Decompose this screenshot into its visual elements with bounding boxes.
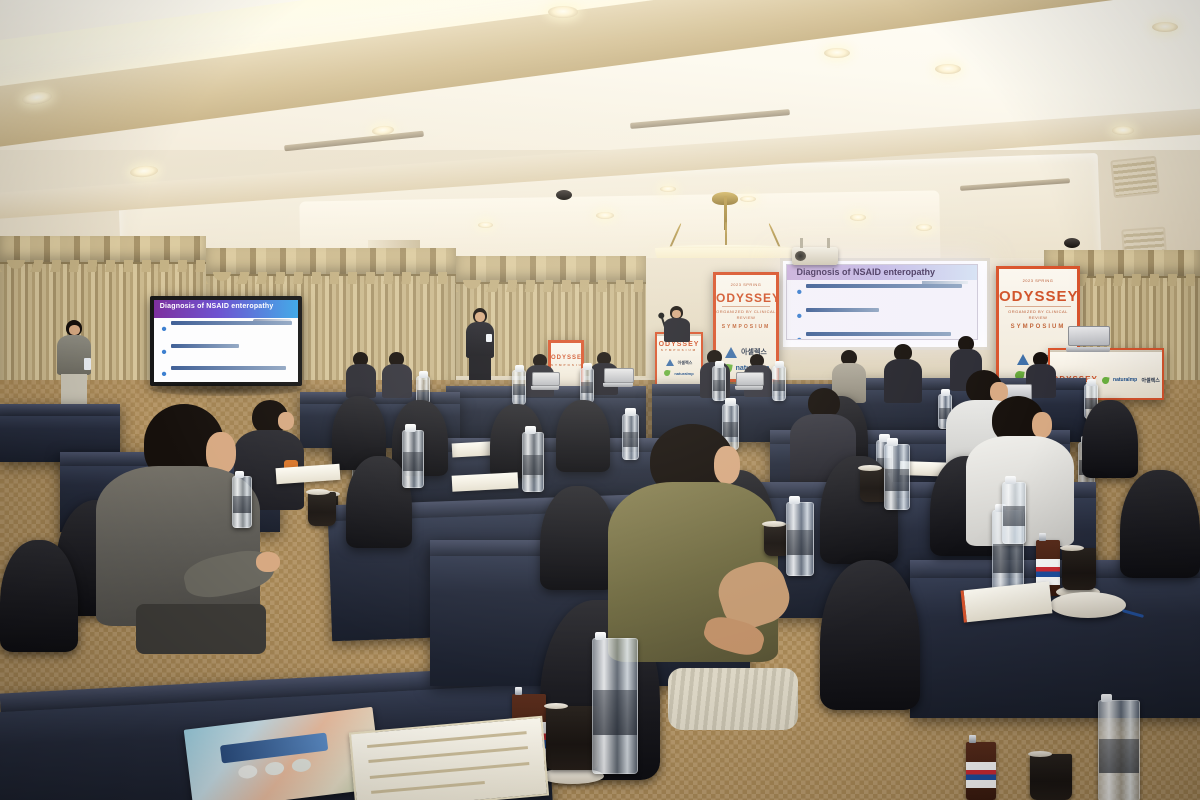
presenter-speaker bbox=[662, 306, 692, 340]
face bbox=[475, 312, 485, 322]
chandelier bbox=[655, 196, 795, 266]
curtain-valance-left bbox=[0, 236, 206, 264]
laptop-screen bbox=[604, 368, 634, 383]
podium-laptop bbox=[1068, 326, 1108, 352]
drink-label bbox=[966, 762, 996, 789]
legs bbox=[61, 374, 87, 406]
bottle-label bbox=[713, 380, 725, 391]
laptop-base bbox=[735, 386, 763, 390]
left-slide-body: • • • • • • bbox=[161, 321, 292, 382]
water-bottle bbox=[232, 476, 252, 528]
seated-attendee bbox=[382, 352, 412, 396]
program-rule bbox=[371, 781, 485, 794]
face bbox=[714, 446, 740, 484]
podium-sponsor-logo-leaf: naturalmp bbox=[657, 370, 701, 376]
mobile-phone bbox=[84, 358, 91, 370]
hvac-square-diffuser bbox=[1110, 156, 1160, 199]
standing-attendee-phone bbox=[56, 320, 92, 406]
podium-banner-title: ODYSSEY bbox=[657, 341, 701, 348]
screen-shadow bbox=[150, 382, 302, 396]
paper-cup bbox=[1062, 548, 1096, 590]
seated-attendee bbox=[884, 344, 922, 402]
slide-bullet: • bbox=[797, 308, 970, 326]
left-slide-title: Diagnosis of NSAID enteropathy bbox=[160, 303, 274, 310]
water-bottle bbox=[592, 638, 638, 774]
face bbox=[69, 325, 80, 335]
slide-bullet: • bbox=[797, 332, 970, 340]
ceiling-speaker-icon bbox=[556, 190, 572, 200]
banner-title: ODYSSEY bbox=[716, 292, 776, 304]
name-badge bbox=[486, 334, 492, 342]
attendee-laptop bbox=[736, 372, 762, 390]
standing-staff-member bbox=[464, 308, 496, 380]
water-bottle bbox=[1098, 700, 1140, 800]
brochure-pill bbox=[238, 764, 258, 779]
seated-attendee bbox=[346, 352, 376, 396]
chair bbox=[1120, 470, 1200, 578]
banner-footer: SYMPOSIUM bbox=[999, 324, 1077, 330]
curtain-valance-center bbox=[206, 248, 456, 276]
laptop-screen bbox=[532, 372, 560, 386]
bottle-label bbox=[581, 382, 593, 393]
bottle-label bbox=[513, 384, 525, 395]
projector-lens-icon bbox=[795, 251, 806, 261]
banner-subtitle: ORGANIZED BY CLINICAL REVIEW bbox=[999, 309, 1077, 321]
downlight-icon bbox=[935, 64, 961, 74]
torso bbox=[884, 359, 922, 403]
leaf-icon bbox=[1101, 376, 1109, 384]
downlight-icon bbox=[1152, 22, 1178, 32]
podium-banner-footer: SYMPOSIUM bbox=[657, 348, 701, 352]
water-bottle bbox=[712, 366, 726, 401]
left-projection-screen: Diagnosis of NSAID enteropathy • • • • •… bbox=[150, 296, 302, 386]
chair bbox=[540, 486, 616, 590]
paper-cup bbox=[308, 492, 336, 526]
brochure-banner bbox=[220, 732, 328, 763]
bottle-label bbox=[885, 469, 909, 491]
laptop-base bbox=[603, 383, 633, 387]
legs bbox=[136, 604, 266, 654]
chair bbox=[0, 540, 78, 652]
podium-sponsor-logo-leaf: naturalmp bbox=[1102, 377, 1137, 384]
slide-bullet: • bbox=[797, 284, 970, 302]
water-bottle bbox=[1002, 482, 1026, 544]
chair bbox=[820, 560, 920, 710]
torso bbox=[382, 364, 412, 398]
bottle-label bbox=[1003, 506, 1025, 526]
conference-room-photo: Diagnosis of NSAID enteropathy • • • • •… bbox=[0, 0, 1200, 800]
chair bbox=[556, 400, 610, 472]
water-bottle bbox=[786, 502, 814, 576]
program-rule bbox=[370, 762, 529, 779]
torso bbox=[346, 364, 376, 398]
downlight-icon bbox=[660, 186, 676, 192]
laptop-screen bbox=[1068, 326, 1110, 346]
banner-footer: SYMPOSIUM bbox=[716, 324, 776, 330]
brochure-pill bbox=[291, 757, 311, 772]
bottle-label bbox=[523, 455, 543, 475]
bottle-label bbox=[1099, 739, 1139, 773]
paper-cup bbox=[1030, 754, 1072, 800]
leaf-icon bbox=[664, 370, 671, 377]
legs bbox=[469, 356, 491, 380]
face bbox=[1032, 412, 1052, 438]
banner-top-line: 2023 SPRING bbox=[999, 278, 1077, 284]
hand bbox=[256, 552, 280, 572]
program-rule bbox=[369, 746, 528, 763]
downlight-icon bbox=[478, 222, 493, 228]
water-bottle bbox=[884, 444, 910, 510]
left-slide: Diagnosis of NSAID enteropathy • • • • •… bbox=[154, 300, 298, 382]
curtain-valance-center-right bbox=[456, 256, 646, 284]
bottle-label bbox=[403, 452, 423, 471]
bottle-label bbox=[593, 690, 637, 736]
slide-bullet: • bbox=[161, 321, 292, 339]
right-slide-title: Diagnosis of NSAID enteropathy bbox=[797, 267, 936, 277]
sponsor-name: naturalmp bbox=[1113, 377, 1137, 383]
water-bottle bbox=[580, 368, 594, 403]
downlight-icon bbox=[548, 6, 578, 18]
water-bottle bbox=[512, 370, 526, 405]
triangle-icon bbox=[666, 359, 674, 366]
ceiling-speaker-icon bbox=[1064, 238, 1080, 248]
banner-rule bbox=[1005, 306, 1071, 307]
slide-bullet: • bbox=[161, 344, 292, 362]
right-projection-screen: Diagnosis of NSAID enteropathy • • • • bbox=[786, 264, 978, 340]
downlight-icon bbox=[1112, 126, 1134, 135]
water-bottle bbox=[522, 432, 544, 492]
laptop-base bbox=[531, 386, 559, 390]
chair bbox=[1082, 400, 1138, 478]
downlight-icon bbox=[916, 224, 932, 231]
torso bbox=[664, 318, 690, 342]
banner-rule bbox=[722, 306, 770, 307]
downlight-icon bbox=[850, 214, 866, 221]
downlight-icon bbox=[824, 48, 850, 58]
program-rule bbox=[367, 731, 526, 748]
water-bottle bbox=[772, 366, 786, 401]
attendee-laptop bbox=[604, 368, 632, 387]
sponsor-name: 아셀렉스 bbox=[678, 360, 693, 366]
banner-title: ODYSSEY bbox=[999, 289, 1077, 304]
seated-attendee-grey-suit bbox=[96, 404, 266, 654]
right-slide-body: • • • • bbox=[797, 284, 970, 340]
laptop-base bbox=[1066, 347, 1109, 352]
face bbox=[672, 310, 681, 318]
brochure-pill bbox=[264, 761, 284, 776]
banner-title: ODYSSEY bbox=[551, 355, 581, 361]
water-bottle bbox=[402, 430, 424, 488]
banner-subtitle: ORGANIZED BY CLINICAL REVIEW bbox=[716, 309, 776, 321]
podium-sponsor-logo-triangle: 아셀렉스 bbox=[657, 359, 701, 366]
bottle-label bbox=[787, 530, 813, 554]
downlight-icon bbox=[596, 212, 614, 219]
face bbox=[278, 412, 294, 430]
sponsor-name: 아셀렉스 bbox=[1141, 377, 1159, 384]
health-drink-bottle bbox=[966, 742, 996, 800]
laptop-screen bbox=[736, 372, 764, 386]
banner-top-line: 2023 SPRING bbox=[716, 282, 776, 288]
ceiling-projector bbox=[792, 247, 838, 265]
sponsor-name: naturalmp bbox=[674, 371, 693, 376]
banner-footer: SYMPOSIUM bbox=[551, 363, 581, 367]
trousers bbox=[668, 668, 798, 730]
attendee-laptop bbox=[532, 372, 558, 390]
bottle-label bbox=[773, 380, 785, 391]
slide-bullet: • bbox=[161, 366, 292, 382]
paper-cup bbox=[546, 706, 598, 770]
bottle-label bbox=[233, 496, 251, 513]
